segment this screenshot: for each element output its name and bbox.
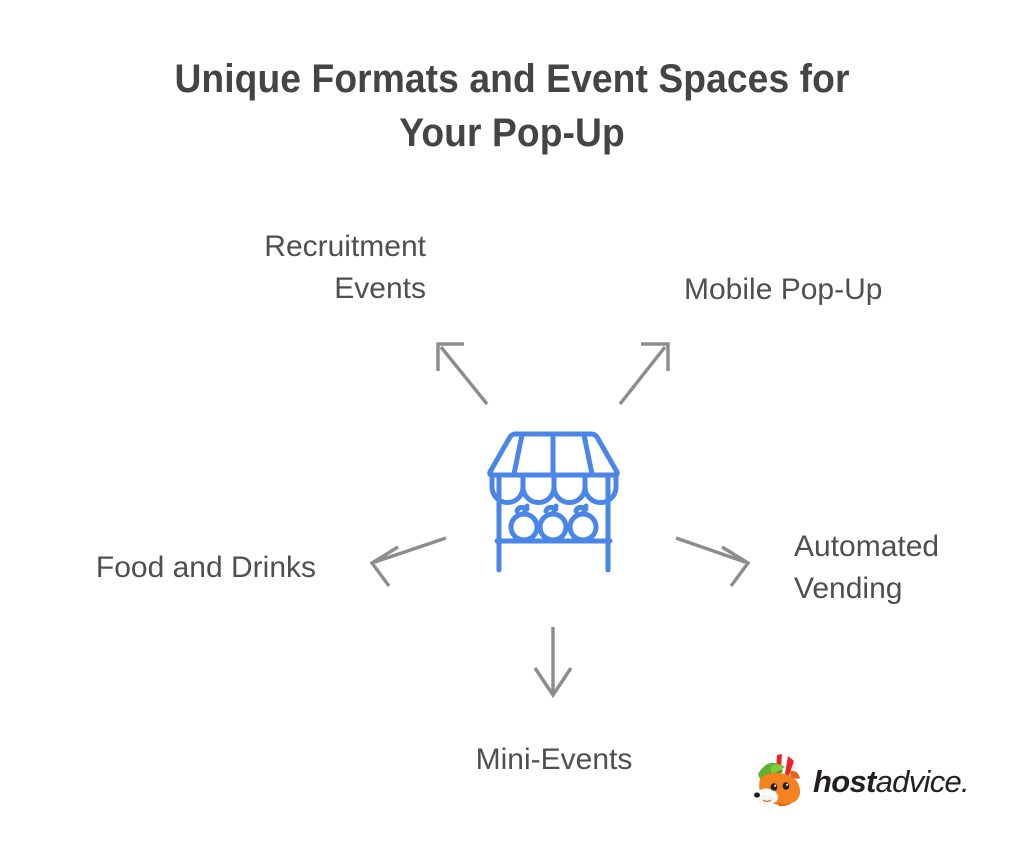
node-label-food-and-drinks[interactable]: Food and Drinks bbox=[20, 547, 316, 589]
node-label-recruitment-events[interactable]: Recruitment Events bbox=[150, 226, 426, 310]
wordmark-host: host bbox=[813, 764, 876, 799]
hostadvice-logo[interactable]: hostadvice. bbox=[747, 750, 987, 812]
wordmark-advice: advice. bbox=[876, 764, 969, 799]
arrow-to-automated-vending bbox=[676, 538, 748, 586]
node-label-mobile-popup[interactable]: Mobile Pop-Up bbox=[684, 269, 984, 311]
node-label-mini-events[interactable]: Mini-Events bbox=[404, 739, 704, 781]
hub-and-spoke-diagram: Recruitment Events Mobile Pop-Up Automat… bbox=[0, 0, 1024, 857]
node-label-automated-vending[interactable]: Automated Vending bbox=[794, 526, 1014, 610]
arrow-to-food-and-drinks bbox=[372, 538, 446, 586]
hostadvice-wordmark: hostadvice. bbox=[813, 766, 969, 797]
market-stall-icon bbox=[0, 0, 1024, 857]
arrow-to-mini-events bbox=[535, 627, 571, 695]
arrow-layer bbox=[0, 0, 1024, 857]
arrow-to-mobile-popup bbox=[620, 344, 668, 404]
arrow-to-recruitment-events bbox=[438, 344, 487, 404]
fox-mascot-icon bbox=[747, 753, 805, 809]
